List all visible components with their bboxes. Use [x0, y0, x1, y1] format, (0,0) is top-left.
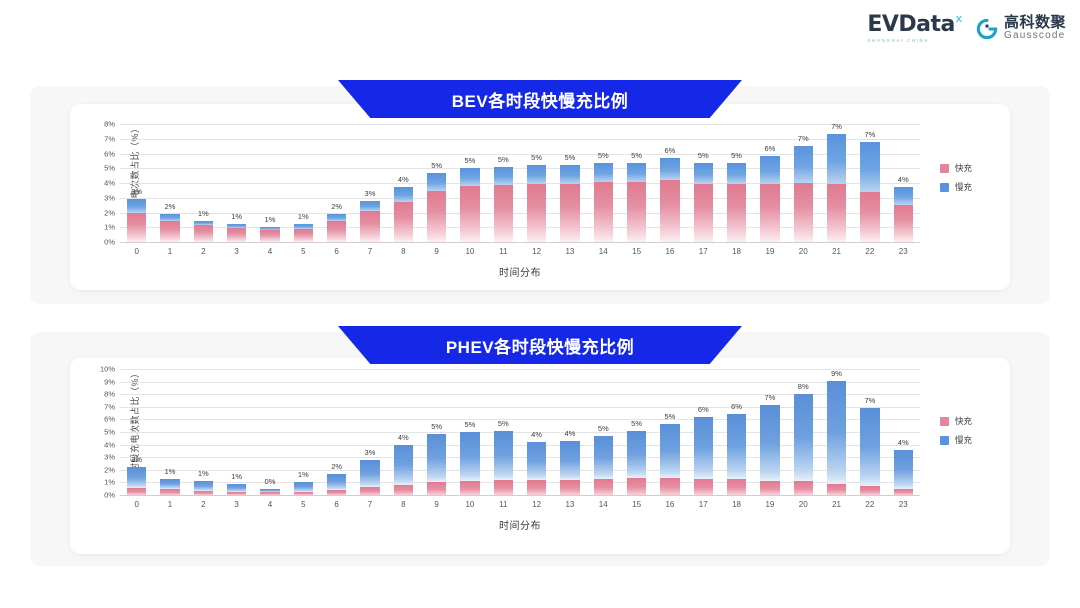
y-axis-tick: 6%	[104, 415, 115, 424]
stacked-bar[interactable]	[494, 167, 513, 242]
bar-segment-fast	[294, 229, 313, 242]
y-axis-tick: 5%	[104, 164, 115, 173]
stacked-bar[interactable]	[394, 187, 413, 242]
bar-column[interactable]: 4%	[387, 369, 420, 495]
bar-segment-fast	[127, 488, 146, 495]
y-axis-tick: 7%	[104, 402, 115, 411]
stacked-bar[interactable]	[527, 165, 546, 242]
stacked-bar[interactable]	[494, 431, 513, 495]
stacked-bar[interactable]	[127, 467, 146, 495]
bar-column[interactable]: 6%	[720, 369, 753, 495]
bar-segment-slow	[394, 187, 413, 202]
bar-segment-fast	[760, 184, 779, 242]
slide-page: EV Data x SHANGHAI CHINA 高科数聚 Gausscode	[0, 0, 1080, 608]
bar-column[interactable]: 5%	[453, 369, 486, 495]
bar-segment-slow	[760, 156, 779, 183]
stacked-bar[interactable]	[660, 158, 679, 242]
stacked-bar[interactable]	[227, 224, 246, 242]
bar-segment-fast	[327, 221, 346, 242]
x-axis-tick: 13	[553, 495, 586, 509]
bar-segment-fast	[227, 228, 246, 242]
stacked-bar[interactable]	[127, 199, 146, 242]
stacked-bar[interactable]	[360, 460, 379, 495]
x-axis-tick: 4	[253, 495, 286, 509]
bar-value-label: 1%	[231, 472, 242, 481]
x-axis-tick: 10	[453, 242, 486, 256]
legend-label-slow: 慢充	[955, 434, 972, 446]
x-axis-tick: 8	[387, 495, 420, 509]
gausscode-cn-text: 高科数聚	[1004, 15, 1066, 31]
y-axis-tick: 1%	[104, 223, 115, 232]
bar-value-label: 7%	[864, 396, 875, 405]
gausscode-logo: 高科数聚 Gausscode	[976, 15, 1066, 41]
bar-column[interactable]: 7%	[853, 124, 886, 242]
x-axis-tick: 9	[420, 495, 453, 509]
bar-segment-slow	[627, 431, 646, 478]
bar-column[interactable]: 2%	[120, 369, 153, 495]
phev-x-axis-label: 时间分布	[60, 517, 980, 532]
bar-segment-fast	[427, 482, 446, 495]
stacked-bar[interactable]	[527, 442, 546, 495]
bev-chart: 各时段充电次数占比（%） 0%1%2%3%4%5%6%7%8%3%2%1%1%1…	[60, 120, 980, 290]
gausscode-text: 高科数聚 Gausscode	[1004, 15, 1066, 41]
bar-value-label: 3%	[365, 448, 376, 457]
bar-segment-slow	[427, 173, 446, 191]
bar-segment-fast	[794, 481, 813, 495]
legend-item-slow[interactable]: 慢充	[940, 181, 972, 193]
bar-column[interactable]: 6%	[753, 124, 786, 242]
x-axis-tick: 2	[187, 495, 220, 509]
page-header: EV Data x SHANGHAI CHINA 高科数聚 Gausscode	[0, 0, 1080, 66]
legend-swatch-slow-icon	[940, 436, 949, 445]
bar-segment-fast	[727, 479, 746, 495]
bar-segment-slow	[827, 134, 846, 183]
x-axis-tick: 15	[620, 495, 653, 509]
legend-item-slow[interactable]: 慢充	[940, 434, 972, 446]
y-axis-tick: 10%	[100, 365, 115, 374]
stacked-bar[interactable]	[727, 414, 746, 495]
bar-segment-fast	[760, 481, 779, 495]
x-axis-tick: 1	[153, 242, 186, 256]
bar-segment-slow	[194, 481, 213, 490]
stacked-bar[interactable]	[794, 146, 813, 242]
y-axis-tick: 4%	[104, 440, 115, 449]
stacked-bar[interactable]	[460, 432, 479, 495]
bar-column[interactable]: 1%	[187, 124, 220, 242]
evdata-logo-superscript-icon: x	[956, 13, 962, 25]
bar-column[interactable]: 5%	[553, 124, 586, 242]
legend-swatch-fast-icon	[940, 164, 949, 173]
stacked-bar[interactable]	[727, 163, 746, 242]
phev-chart-title-ribbon: PHEV各时段快慢充比例	[338, 326, 742, 364]
x-axis-tick: 7	[353, 495, 386, 509]
bar-column[interactable]: 4%	[553, 369, 586, 495]
x-axis-tick: 12	[520, 242, 553, 256]
bar-value-label: 5%	[698, 151, 709, 160]
bar-value-label: 5%	[498, 419, 509, 428]
bar-column[interactable]: 5%	[620, 124, 653, 242]
bar-value-label: 0%	[265, 477, 276, 486]
bar-value-label: 4%	[398, 175, 409, 184]
bar-column[interactable]: 4%	[387, 124, 420, 242]
bar-column[interactable]: 7%	[787, 124, 820, 242]
stacked-bar[interactable]	[894, 450, 913, 495]
stacked-bar[interactable]	[627, 163, 646, 242]
bar-value-label: 1%	[265, 215, 276, 224]
bar-segment-slow	[694, 417, 713, 479]
legend-swatch-fast-icon	[940, 417, 949, 426]
bar-segment-fast	[460, 186, 479, 242]
x-axis-tick: 21	[820, 242, 853, 256]
bar-value-label: 5%	[498, 155, 509, 164]
bar-segment-slow	[860, 142, 879, 191]
bar-column[interactable]: 5%	[520, 124, 553, 242]
logo-group: EV Data x SHANGHAI CHINA 高科数聚 Gausscode	[867, 14, 1066, 43]
bar-segment-fast	[727, 184, 746, 242]
bar-segment-slow	[160, 214, 179, 221]
bar-segment-fast	[394, 485, 413, 495]
y-axis-tick: 8%	[104, 120, 115, 129]
bar-value-label: 6%	[698, 405, 709, 414]
bar-segment-slow	[594, 163, 613, 182]
x-axis-tick: 2	[187, 242, 220, 256]
bar-column[interactable]: 1%	[187, 369, 220, 495]
bar-value-label: 2%	[331, 462, 342, 471]
bar-group: 3%2%1%1%1%1%2%3%4%5%5%5%5%5%5%5%6%5%5%6%…	[120, 124, 920, 242]
x-axis-tick: 23	[887, 242, 920, 256]
x-axis-tick: 11	[487, 495, 520, 509]
stacked-bar[interactable]	[160, 214, 179, 242]
bar-segment-slow	[860, 408, 879, 486]
bar-value-label: 7%	[864, 130, 875, 139]
bar-segment-fast	[394, 202, 413, 242]
bar-column[interactable]: 3%	[353, 369, 386, 495]
legend-label-fast: 快充	[955, 162, 972, 174]
bar-value-label: 7%	[764, 393, 775, 402]
bar-segment-slow	[294, 482, 313, 491]
y-axis-tick: 2%	[104, 465, 115, 474]
bar-column[interactable]: 5%	[487, 124, 520, 242]
legend-swatch-slow-icon	[940, 183, 949, 192]
bar-column[interactable]: 5%	[587, 369, 620, 495]
bar-segment-slow	[460, 432, 479, 481]
bar-column[interactable]: 2%	[320, 124, 353, 242]
evdata-logo-subtitle: SHANGHAI CHINA	[867, 38, 929, 43]
bar-segment-fast	[860, 486, 879, 495]
bar-value-label: 2%	[331, 202, 342, 211]
bar-value-label: 5%	[431, 422, 442, 431]
y-axis-tick: 6%	[104, 149, 115, 158]
bar-column[interactable]: 2%	[153, 124, 186, 242]
legend-label-fast: 快充	[955, 415, 972, 427]
bar-value-label: 9%	[831, 369, 842, 378]
evdata-logo-main: EV Data x	[867, 14, 962, 36]
bar-segment-fast	[360, 487, 379, 495]
stacked-bar[interactable]	[194, 481, 213, 495]
stacked-bar[interactable]	[327, 214, 346, 242]
bar-segment-slow	[560, 441, 579, 479]
x-axis-tick: 19	[753, 495, 786, 509]
stacked-bar[interactable]	[894, 187, 913, 242]
bar-value-label: 3%	[131, 187, 142, 196]
y-axis-tick: 9%	[104, 377, 115, 386]
gausscode-mark-icon	[976, 18, 998, 40]
bar-value-label: 5%	[598, 151, 609, 160]
bar-column[interactable]: 9%	[820, 369, 853, 495]
bar-value-label: 2%	[131, 455, 142, 464]
bar-column[interactable]: 4%	[887, 124, 920, 242]
y-axis-tick: 5%	[104, 428, 115, 437]
bar-value-label: 5%	[431, 161, 442, 170]
bar-segment-fast	[860, 192, 879, 242]
x-axis-tick: 19	[753, 242, 786, 256]
bev-y-axis-label-box: 各时段充电次数占比（%）	[78, 120, 94, 240]
legend-label-slow: 慢充	[955, 181, 972, 193]
x-axis-tick: 18	[720, 495, 753, 509]
bar-value-label: 6%	[764, 144, 775, 153]
bar-value-label: 7%	[831, 122, 842, 131]
bar-segment-slow	[360, 460, 379, 488]
stacked-bar[interactable]	[560, 165, 579, 242]
evdata-logo: EV Data x SHANGHAI CHINA	[867, 14, 962, 43]
bar-value-label: 1%	[165, 467, 176, 476]
bev-chart-title-ribbon: BEV各时段快慢充比例	[338, 80, 742, 118]
bar-value-label: 5%	[631, 151, 642, 160]
bar-column[interactable]: 1%	[153, 369, 186, 495]
bar-column[interactable]: 5%	[587, 124, 620, 242]
stacked-bar[interactable]	[627, 431, 646, 495]
bar-column[interactable]: 1%	[287, 369, 320, 495]
bar-column[interactable]: 3%	[120, 124, 153, 242]
x-axis-tick: 13	[553, 242, 586, 256]
x-axis-tick: 20	[787, 242, 820, 256]
bar-segment-fast	[660, 180, 679, 242]
stacked-bar[interactable]	[594, 436, 613, 495]
bar-column[interactable]: 4%	[887, 369, 920, 495]
bar-column[interactable]: 6%	[653, 124, 686, 242]
stacked-bar[interactable]	[694, 417, 713, 495]
bar-segment-fast	[160, 221, 179, 242]
stacked-bar[interactable]	[260, 227, 279, 242]
bar-segment-fast	[494, 480, 513, 495]
stacked-bar[interactable]	[694, 163, 713, 242]
x-axis-tick: 20	[787, 495, 820, 509]
bar-segment-fast	[260, 230, 279, 242]
x-axis-tick: 11	[487, 242, 520, 256]
bar-segment-fast	[827, 184, 846, 242]
bar-segment-slow	[760, 405, 779, 481]
bar-column[interactable]: 7%	[820, 124, 853, 242]
bar-segment-slow	[527, 442, 546, 480]
bar-segment-slow	[894, 450, 913, 489]
evdata-logo-data-text: Data	[898, 14, 954, 36]
bar-segment-slow	[660, 424, 679, 478]
bar-segment-slow	[727, 163, 746, 184]
x-axis-tick: 22	[853, 242, 886, 256]
stacked-bar[interactable]	[860, 408, 879, 495]
x-axis-tick: 3	[220, 242, 253, 256]
bar-segment-slow	[794, 394, 813, 482]
x-axis-tick: 14	[587, 242, 620, 256]
x-axis-tick: 23	[887, 495, 920, 509]
stacked-bar[interactable]	[594, 163, 613, 242]
x-axis-tick: 16	[653, 495, 686, 509]
bar-value-label: 1%	[198, 209, 209, 218]
x-axis-ticks: 01234567891011121314151617181920212223	[120, 495, 920, 509]
bev-plot-area: 0%1%2%3%4%5%6%7%8%3%2%1%1%1%1%2%3%4%5%5%…	[120, 124, 920, 242]
bar-column[interactable]: 1%	[220, 369, 253, 495]
bar-value-label: 1%	[298, 470, 309, 479]
x-axis-tick: 0	[120, 242, 153, 256]
bar-column[interactable]: 6%	[687, 369, 720, 495]
bar-segment-fast	[794, 183, 813, 242]
bar-segment-slow	[694, 163, 713, 184]
bar-segment-fast	[360, 211, 379, 242]
bar-column[interactable]: 5%	[687, 124, 720, 242]
bev-x-axis-label: 时间分布	[60, 264, 980, 279]
x-axis-tick: 21	[820, 495, 853, 509]
bar-segment-slow	[494, 167, 513, 185]
x-axis-tick: 17	[687, 495, 720, 509]
y-axis-tick: 2%	[104, 208, 115, 217]
bar-column[interactable]: 5%	[653, 369, 686, 495]
bar-value-label: 5%	[565, 153, 576, 162]
stacked-bar[interactable]	[760, 405, 779, 495]
x-axis-tick: 9	[420, 242, 453, 256]
bar-column[interactable]: 5%	[620, 369, 653, 495]
bar-segment-slow	[360, 201, 379, 211]
stacked-bar[interactable]	[794, 394, 813, 495]
stacked-bar[interactable]	[660, 424, 679, 495]
stacked-bar[interactable]	[827, 381, 846, 495]
bar-value-label: 5%	[465, 156, 476, 165]
bar-column[interactable]: 7%	[753, 369, 786, 495]
bar-segment-slow	[494, 431, 513, 480]
x-axis-tick: 12	[520, 495, 553, 509]
bar-column[interactable]: 4%	[520, 369, 553, 495]
stacked-bar[interactable]	[860, 142, 879, 242]
bar-segment-slow	[527, 165, 546, 184]
stacked-bar[interactable]	[427, 173, 446, 242]
bar-column[interactable]: 2%	[320, 369, 353, 495]
x-axis-tick: 7	[353, 242, 386, 256]
bar-segment-slow	[227, 484, 246, 492]
bar-value-label: 4%	[898, 175, 909, 184]
stacked-bar[interactable]	[194, 221, 213, 242]
bar-segment-slow	[427, 434, 446, 482]
bar-segment-fast	[694, 184, 713, 242]
bar-segment-slow	[327, 214, 346, 221]
stacked-bar[interactable]	[560, 441, 579, 495]
bar-segment-slow	[627, 163, 646, 182]
legend-item-fast[interactable]: 快充	[940, 415, 972, 427]
stacked-bar[interactable]	[327, 474, 346, 495]
x-axis-tick: 18	[720, 242, 753, 256]
y-axis-tick: 3%	[104, 453, 115, 462]
bar-segment-slow	[394, 445, 413, 485]
bar-value-label: 4%	[565, 429, 576, 438]
bar-column[interactable]: 8%	[787, 369, 820, 495]
phev-chart: 各时段充电次数占比（%） 0%1%2%3%4%5%6%7%8%9%10%2%1%…	[60, 365, 980, 545]
bar-value-label: 7%	[798, 134, 809, 143]
bar-column[interactable]: 5%	[420, 124, 453, 242]
bar-column[interactable]: 1%	[220, 124, 253, 242]
y-axis-tick: 0%	[104, 238, 115, 247]
bar-column[interactable]: 1%	[253, 124, 286, 242]
bar-segment-fast	[194, 225, 213, 242]
bar-segment-fast	[494, 185, 513, 242]
bar-segment-slow	[460, 168, 479, 186]
bar-value-label: 5%	[731, 151, 742, 160]
bar-value-label: 1%	[298, 212, 309, 221]
bar-segment-slow	[594, 436, 613, 479]
phev-legend: 快充 慢充	[940, 415, 972, 446]
stacked-bar[interactable]	[294, 482, 313, 495]
bar-segment-slow	[894, 187, 913, 205]
bar-segment-fast	[627, 182, 646, 242]
bar-segment-fast	[827, 484, 846, 495]
bar-value-label: 5%	[631, 419, 642, 428]
bar-value-label: 8%	[798, 382, 809, 391]
bar-column[interactable]: 5%	[487, 369, 520, 495]
x-axis-tick: 6	[320, 242, 353, 256]
y-axis-tick: 8%	[104, 390, 115, 399]
bar-value-label: 1%	[198, 469, 209, 478]
stacked-bar[interactable]	[760, 156, 779, 242]
bar-value-label: 4%	[531, 430, 542, 439]
evdata-logo-ev-text: EV	[867, 14, 898, 36]
bar-segment-slow	[127, 199, 146, 213]
stacked-bar[interactable]	[460, 168, 479, 242]
bar-value-label: 5%	[465, 420, 476, 429]
bev-legend: 快充 慢充	[940, 162, 972, 193]
bar-value-label: 5%	[664, 412, 675, 421]
bar-value-label: 6%	[731, 402, 742, 411]
x-axis-tick: 22	[853, 495, 886, 509]
x-axis-tick: 14	[587, 495, 620, 509]
bar-segment-slow	[794, 146, 813, 183]
bar-column[interactable]: 3%	[353, 124, 386, 242]
stacked-bar[interactable]	[294, 224, 313, 242]
bar-segment-slow	[727, 414, 746, 480]
stacked-bar[interactable]	[160, 479, 179, 495]
bar-column[interactable]: 5%	[453, 124, 486, 242]
stacked-bar[interactable]	[227, 484, 246, 495]
x-axis-tick: 17	[687, 242, 720, 256]
bar-value-label: 5%	[598, 424, 609, 433]
bar-column[interactable]: 7%	[853, 369, 886, 495]
y-axis-tick: 1%	[104, 478, 115, 487]
stacked-bar[interactable]	[360, 201, 379, 242]
x-axis-tick: 3	[220, 495, 253, 509]
stacked-bar[interactable]	[827, 134, 846, 242]
bar-column[interactable]: 0%	[253, 369, 286, 495]
x-axis-tick: 5	[287, 242, 320, 256]
legend-item-fast[interactable]: 快充	[940, 162, 972, 174]
x-axis-tick: 10	[453, 495, 486, 509]
y-axis-tick: 4%	[104, 179, 115, 188]
bar-segment-slow	[827, 381, 846, 484]
bar-value-label: 4%	[898, 438, 909, 447]
bar-column[interactable]: 1%	[287, 124, 320, 242]
bar-column[interactable]: 5%	[420, 369, 453, 495]
stacked-bar[interactable]	[394, 445, 413, 495]
bar-column[interactable]: 5%	[720, 124, 753, 242]
x-axis-tick: 8	[387, 242, 420, 256]
x-axis-tick: 6	[320, 495, 353, 509]
y-axis-tick: 7%	[104, 134, 115, 143]
stacked-bar[interactable]	[427, 434, 446, 495]
